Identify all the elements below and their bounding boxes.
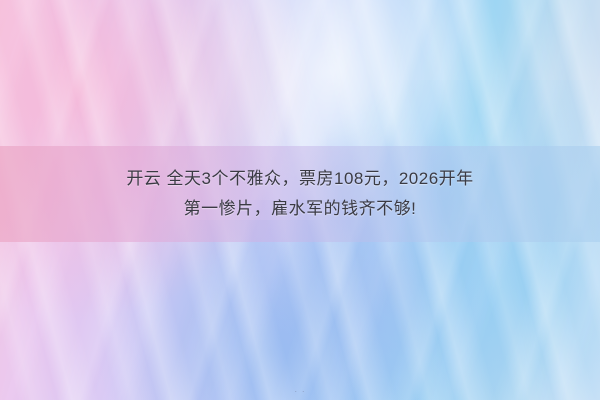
caption-line-2: 第一惨片，雇水军的钱齐不够! [184, 194, 417, 224]
caption-line-1: 开云 全天3个不雅众，票房108元，2026开年 [126, 164, 473, 194]
caption-banner: 开云 全天3个不雅众，票房108元，2026开年 第一惨片，雇水军的钱齐不够! [0, 146, 600, 242]
banner-image: 开云 全天3个不雅众，票房108元，2026开年 第一惨片，雇水军的钱齐不够! … [0, 0, 600, 400]
watermark-text: · · [0, 386, 600, 396]
